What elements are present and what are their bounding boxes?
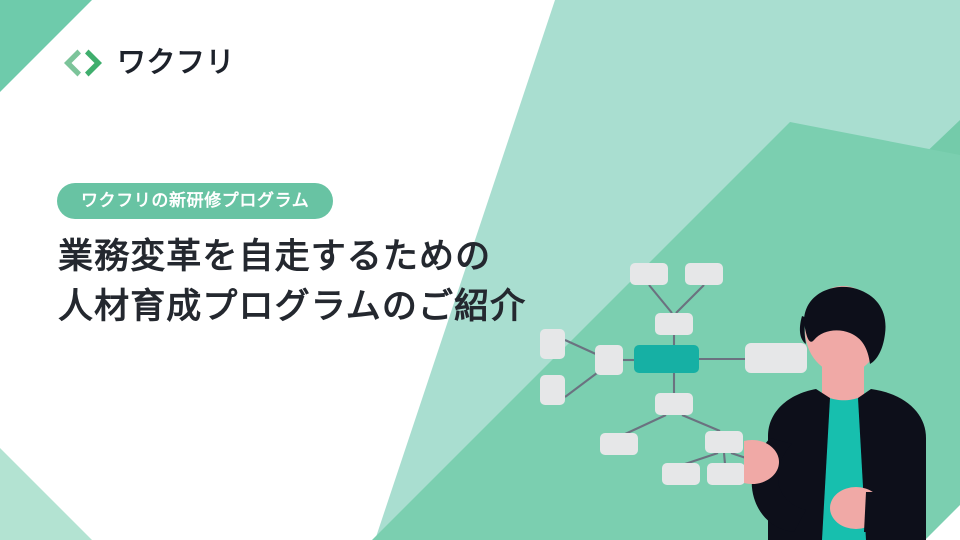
flowchart-node-b5 xyxy=(707,463,745,485)
person-illustration xyxy=(744,286,960,540)
connector-b1-b2 xyxy=(623,415,666,435)
flowchart-node-l3 xyxy=(595,345,623,375)
presentation-slide: ワクフリ ワクフリの新研修プログラム 業務変革を自走するための 人材育成プログラ… xyxy=(0,0,960,540)
connector-b3-b4 xyxy=(685,453,718,464)
connector-t2-t3 xyxy=(676,285,704,313)
person-cuff xyxy=(864,492,894,532)
code-brackets-icon xyxy=(60,46,106,80)
headline-line-2: 人材育成プログラムのご紹介 xyxy=(58,282,526,332)
flowchart-node-l1 xyxy=(540,329,565,359)
flowchart-node-b1 xyxy=(655,393,693,415)
program-badge: ワクフリの新研修プログラム xyxy=(57,183,333,219)
flowchart-node-t3 xyxy=(655,313,693,335)
flowchart-node-b3 xyxy=(705,431,743,453)
flowchart-node-b4 xyxy=(662,463,700,485)
connector-b3-b5 xyxy=(724,453,725,464)
headline-line-1: 業務変革を自走するための xyxy=(58,232,526,282)
flowchart-node-l2 xyxy=(540,375,565,405)
page-title: 業務変革を自走するための 人材育成プログラムのご紹介 xyxy=(58,232,526,331)
flowchart-node-center-highlighted xyxy=(634,345,699,373)
flowchart-node-b2 xyxy=(600,433,638,455)
logo-wordmark: ワクフリ xyxy=(117,49,235,78)
connector-t1-t3 xyxy=(649,285,672,313)
flowchart-node-t1 xyxy=(630,263,668,285)
flowchart-node-t2 xyxy=(685,263,723,285)
connector-b1-b3 xyxy=(682,415,720,431)
brand-logo[interactable]: ワクフリ xyxy=(60,46,235,80)
